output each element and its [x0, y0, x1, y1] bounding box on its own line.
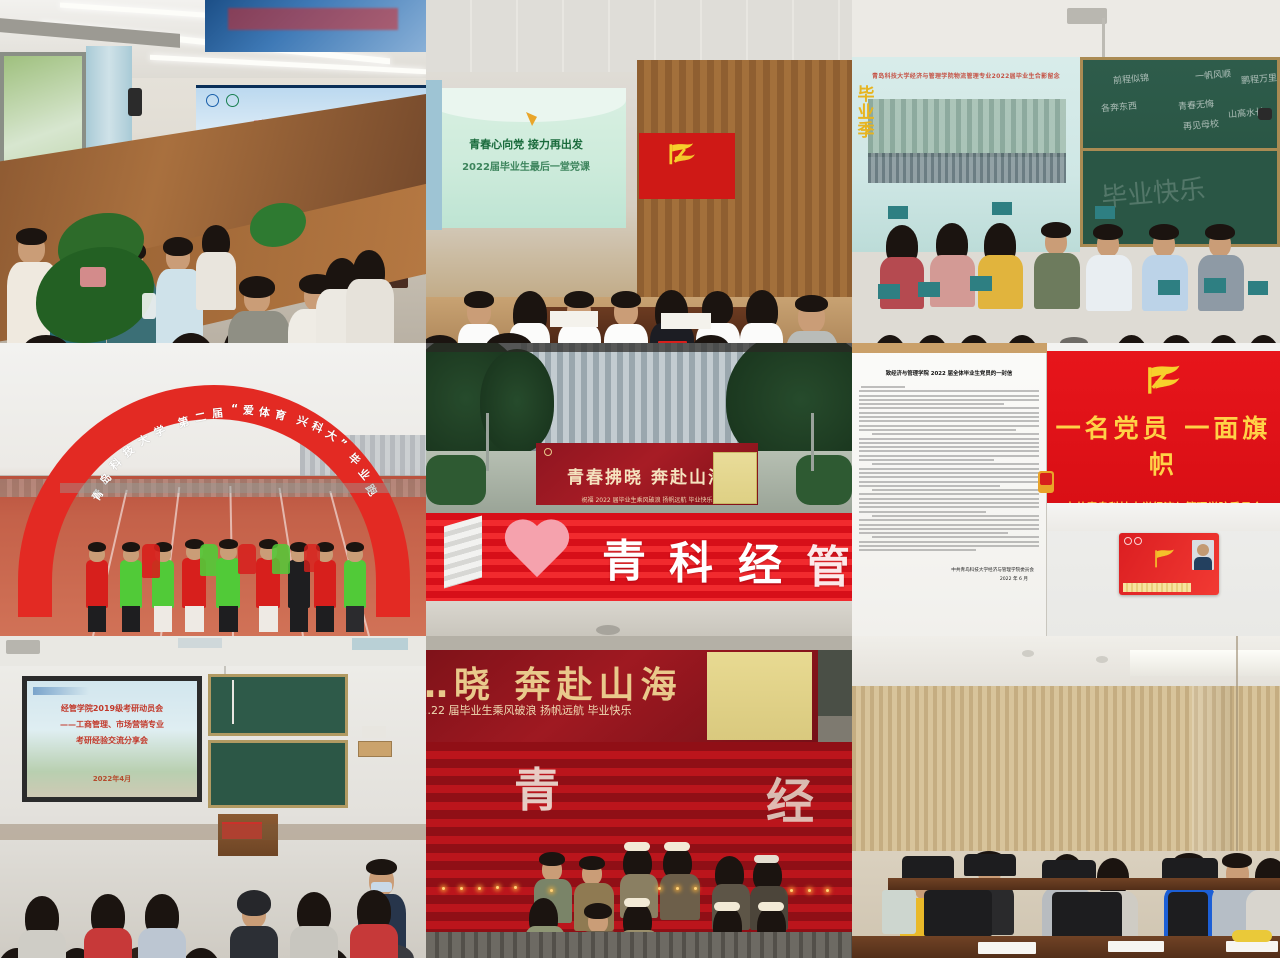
party-flag [639, 133, 735, 199]
panel-seminar-audience [852, 636, 1280, 958]
panel-campus-farewell-banner: 青春拂晓 奔赴山海 祝福 2022 届毕业生乘风破浪 扬帆远航 毕业快乐 青 科… [426, 343, 852, 636]
steps-char-guan: 管 [806, 531, 850, 595]
letter-title: 致经济与管理学院 2022 届全体毕业生党员的一封信 [852, 369, 1046, 377]
letter-signature: 中共青岛科技大学经济与管理学院委员会 [852, 567, 1046, 573]
projection-screen: 青春心向党 接力再出发 2022届毕业生最后一堂党课 [426, 88, 626, 228]
party-slogan: 一名党员 一面旗帜 [1047, 409, 1280, 481]
slide-date: 2022年4月 [27, 774, 197, 784]
night-banner-sub: …22 届毕业生乘风破浪 扬帆远航 毕业快乐 [426, 702, 632, 718]
photo-collage: 后浪奔涌 未来可期 经济与管理学院2022届 毕业生座谈会 [0, 0, 1280, 958]
panel-postgrad-exam-briefing: 经管学院2019级考研动员会 ——工商管理、市场营销专业 考研经验交流分享会 2… [0, 636, 426, 958]
slide-line-3: 考研经验交流分享会 [27, 735, 197, 746]
panel-graduate-symposium: 后浪奔涌 未来可期 经济与管理学院2022届 毕业生座谈会 [0, 0, 426, 343]
steps-char-qing: 青 [602, 525, 646, 589]
panel-final-party-lesson: 青春心向党 接力再出发 2022届毕业生最后一堂党课 [426, 0, 852, 343]
steps-char-ke: 科 [669, 527, 713, 591]
slide-line-1: 经管学院2019级考研动员会 [27, 703, 197, 714]
screen-line-2: 2022届毕业生最后一堂党课 [426, 158, 626, 173]
slide-line-2: ——工商管理、市场营销专业 [27, 719, 197, 730]
panel-night-candle-gathering: …晓 奔赴山海 …22 届毕业生乘风破浪 扬帆远航 毕业快乐 青 经 [426, 636, 852, 958]
projection-slide: 经管学院2019级考研动员会 ——工商管理、市场营销专业 考研经验交流分享会 2… [22, 676, 202, 802]
letter-date: 2022 年 6 月 [852, 576, 1046, 582]
screen-line-1: 青春心向党 接力再出发 [426, 136, 626, 152]
panel-letter-and-party-banner: 致经济与管理学院 2022 届全体毕业生党员的一封信 [852, 343, 1280, 636]
night-banner-main: …晓 奔赴山海 [426, 656, 683, 708]
party-slogan-banner: 一名党员 一面旗帜 中共青岛科技大学经济与管理学院委员会 [1047, 351, 1280, 503]
projection-title: 青岛科技大学经济与管理学院物流管理专业2022届毕业生合影留念 [852, 71, 1080, 80]
open-letter: 致经济与管理学院 2022 届全体毕业生党员的一封信 [852, 343, 1047, 636]
steps-char-jing: 经 [738, 529, 782, 593]
party-id-card [1119, 533, 1219, 595]
panel-class-group-photo: 青岛科技大学经济与管理学院物流管理专业2022届毕业生合影留念 毕业季 前程似锦… [852, 0, 1280, 343]
heart-shape [501, 521, 573, 587]
vertical-graduation-text: 毕业季 [855, 86, 877, 140]
panel-graduation-run: 青 岛 科 技 大 学 第 二 届 “ 爱 体 育 兴 科 大 ” 毕 业 跑 [0, 343, 426, 636]
steps-char: 经 [766, 762, 814, 832]
